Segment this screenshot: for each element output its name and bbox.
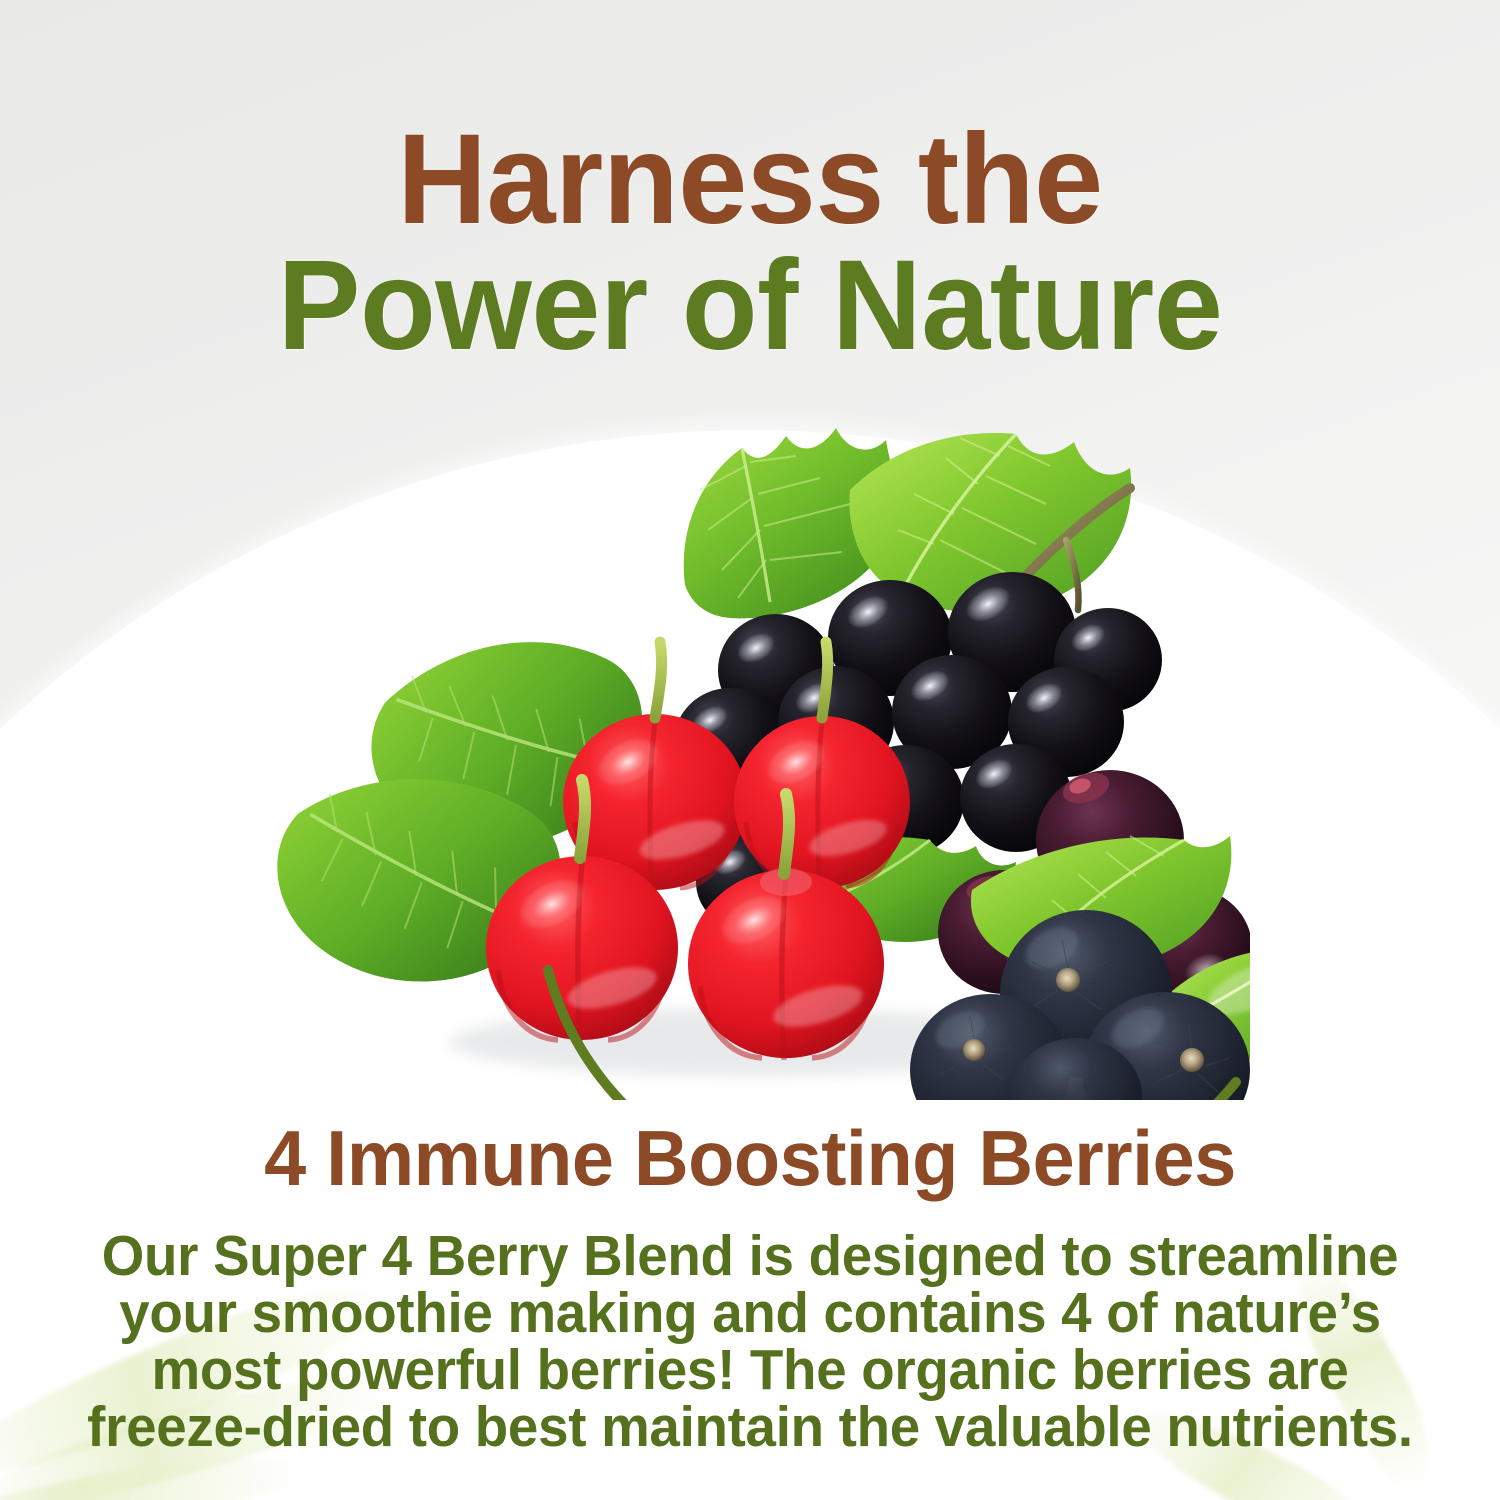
page-title: Harness the Power of Nature xyxy=(0,118,1500,368)
body-line-2: your smoothie making and contains 4 of n… xyxy=(68,1285,1431,1342)
section-heading: 4 Immune Boosting Berries xyxy=(23,1113,1478,1204)
body-paragraph: Our Super 4 Berry Blend is designed to s… xyxy=(68,1228,1431,1456)
hero-berry-image xyxy=(230,370,1250,1100)
body-line-4: freeze-dried to best maintain the valuab… xyxy=(68,1399,1431,1456)
product-infographic: Harness the Power of Nature xyxy=(0,0,1500,1500)
headline-line-1: Harness the xyxy=(23,118,1478,242)
body-line-1: Our Super 4 Berry Blend is designed to s… xyxy=(68,1228,1431,1285)
headline-line-2: Power of Nature xyxy=(23,244,1478,368)
berry-composition-svg xyxy=(230,370,1250,1100)
body-line-3: most powerful berries! The organic berri… xyxy=(68,1342,1431,1399)
